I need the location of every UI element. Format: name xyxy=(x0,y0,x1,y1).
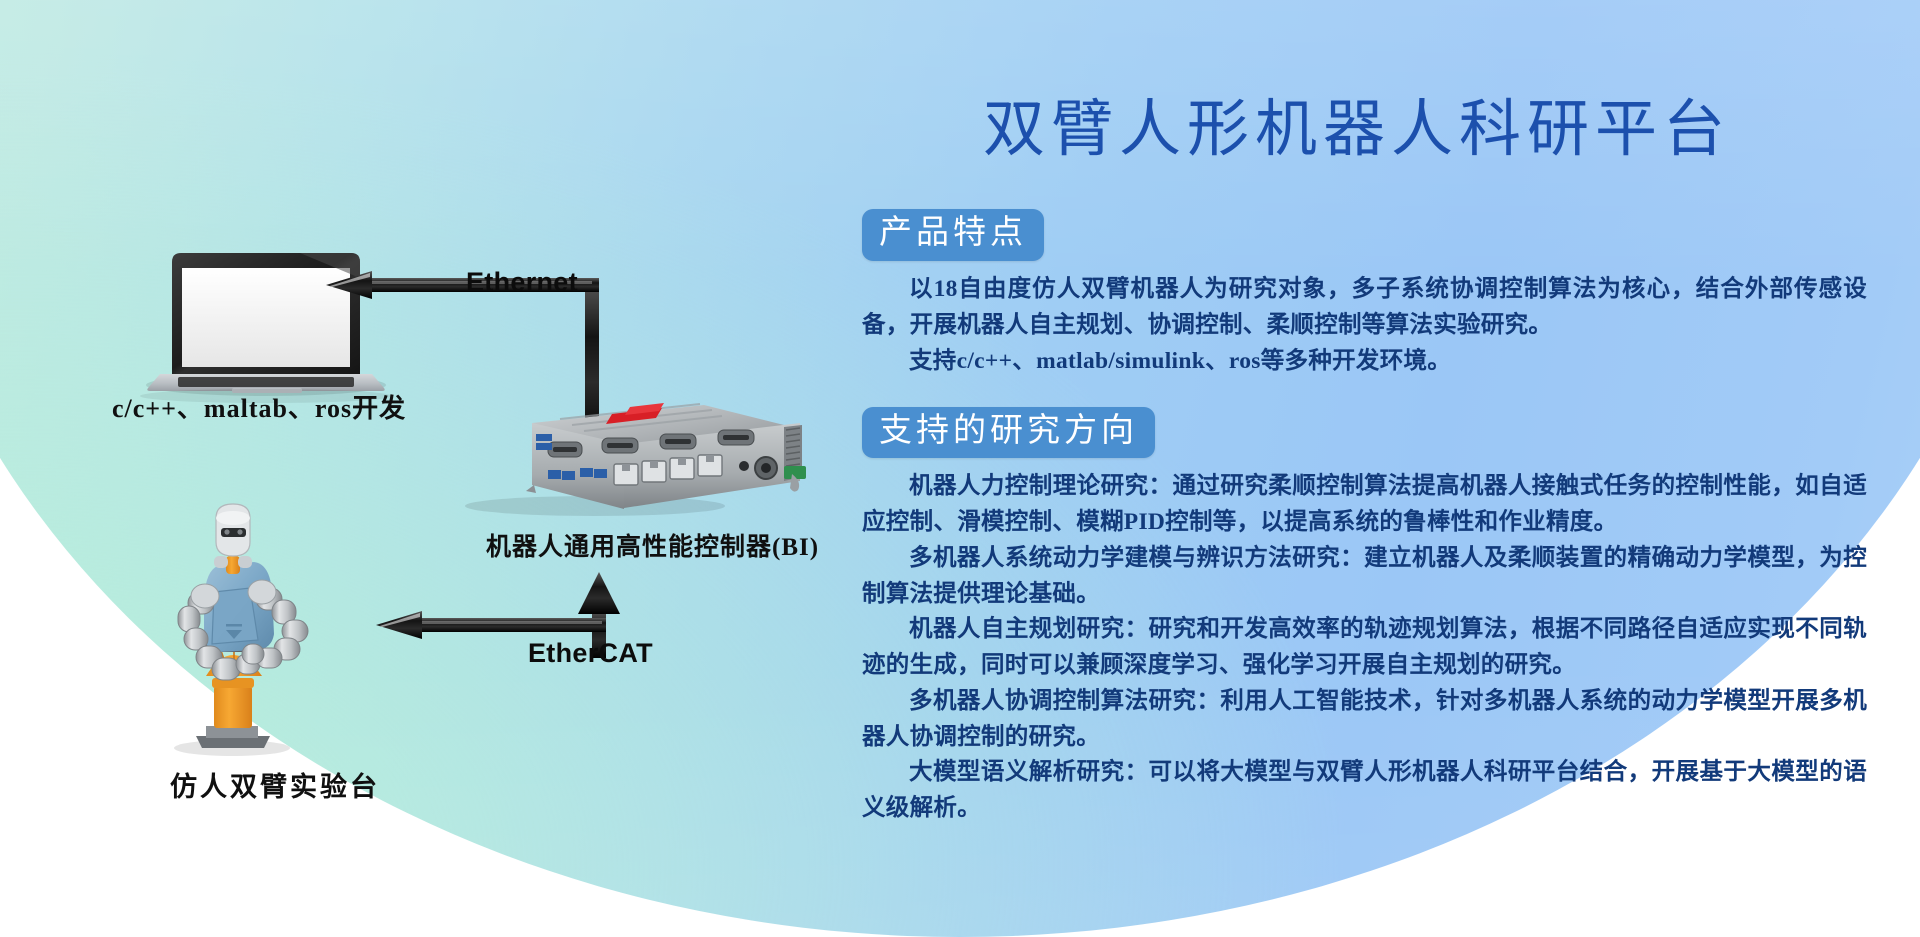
features-section: 产品特点 以18自由度仿人双臂机器人为研究对象，多子系统协调控制算法为核心，结合… xyxy=(862,209,1880,379)
laptop-illustration xyxy=(140,253,392,403)
robot-caption: 仿人双臂实验台 xyxy=(170,765,380,804)
directions-section: 支持的研究方向 机器人力控制理论研究：通过研究柔顺控制算法提高机器人接触式任务的… xyxy=(862,407,1880,827)
diagram-graphics xyxy=(0,0,840,937)
directions-body: 机器人力控制理论研究：通过研究柔顺控制算法提高机器人接触式任务的控制性能，如自适… xyxy=(862,469,1867,826)
architecture-diagram: Ethernet EtherCAT c/c++、maltab、ros开发 机器人… xyxy=(0,0,840,937)
content-column: 双臂人形机器人科研平台 产品特点 以18自由度仿人双臂机器人为研究对象，多子系统… xyxy=(840,96,1880,827)
directions-paragraph-3: 机器人自主规划研究：研究和开发高效率的轨迹规划算法，根据不同路径自适应实现不同轨… xyxy=(862,612,1867,683)
page-title: 双臂人形机器人科研平台 xyxy=(840,96,1880,165)
directions-paragraph-4: 多机器人协调控制算法研究：利用人工智能技术，针对多机器人系统的动力学模型开展多机… xyxy=(862,684,1867,755)
directions-paragraph-1: 机器人力控制理论研究：通过研究柔顺控制算法提高机器人接触式任务的控制性能，如自适… xyxy=(862,469,1867,540)
humanoid-robot-illustration xyxy=(174,504,308,756)
poster-canvas: Ethernet EtherCAT c/c++、maltab、ros开发 机器人… xyxy=(0,0,1920,937)
ethercat-link-label: EtherCAT xyxy=(528,638,653,669)
features-paragraph-2: 支持c/c++、matlab/simulink、ros等多种开发环境。 xyxy=(862,344,1867,380)
features-badge: 产品特点 xyxy=(862,209,1044,261)
directions-paragraph-5: 大模型语义解析研究：可以将大模型与双臂人形机器人科研平台结合，开展基于大模型的语… xyxy=(862,755,1867,826)
features-body: 以18自由度仿人双臂机器人为研究对象，多子系统协调控制算法为核心，结合外部传感设… xyxy=(862,272,1867,379)
directions-paragraph-2: 多机器人系统动力学建模与辨识方法研究：建立机器人及柔顺装置的精确动力学模型，为控… xyxy=(862,541,1867,612)
directions-badge: 支持的研究方向 xyxy=(862,407,1155,459)
controller-caption: 机器人通用高性能控制器(BI) xyxy=(486,527,819,563)
controller-illustration xyxy=(465,403,806,516)
ethernet-link-label: Ethernet xyxy=(466,267,578,298)
features-paragraph-1: 以18自由度仿人双臂机器人为研究对象，多子系统协调控制算法为核心，结合外部传感设… xyxy=(862,272,1867,343)
laptop-caption: c/c++、maltab、ros开发 xyxy=(112,388,406,425)
